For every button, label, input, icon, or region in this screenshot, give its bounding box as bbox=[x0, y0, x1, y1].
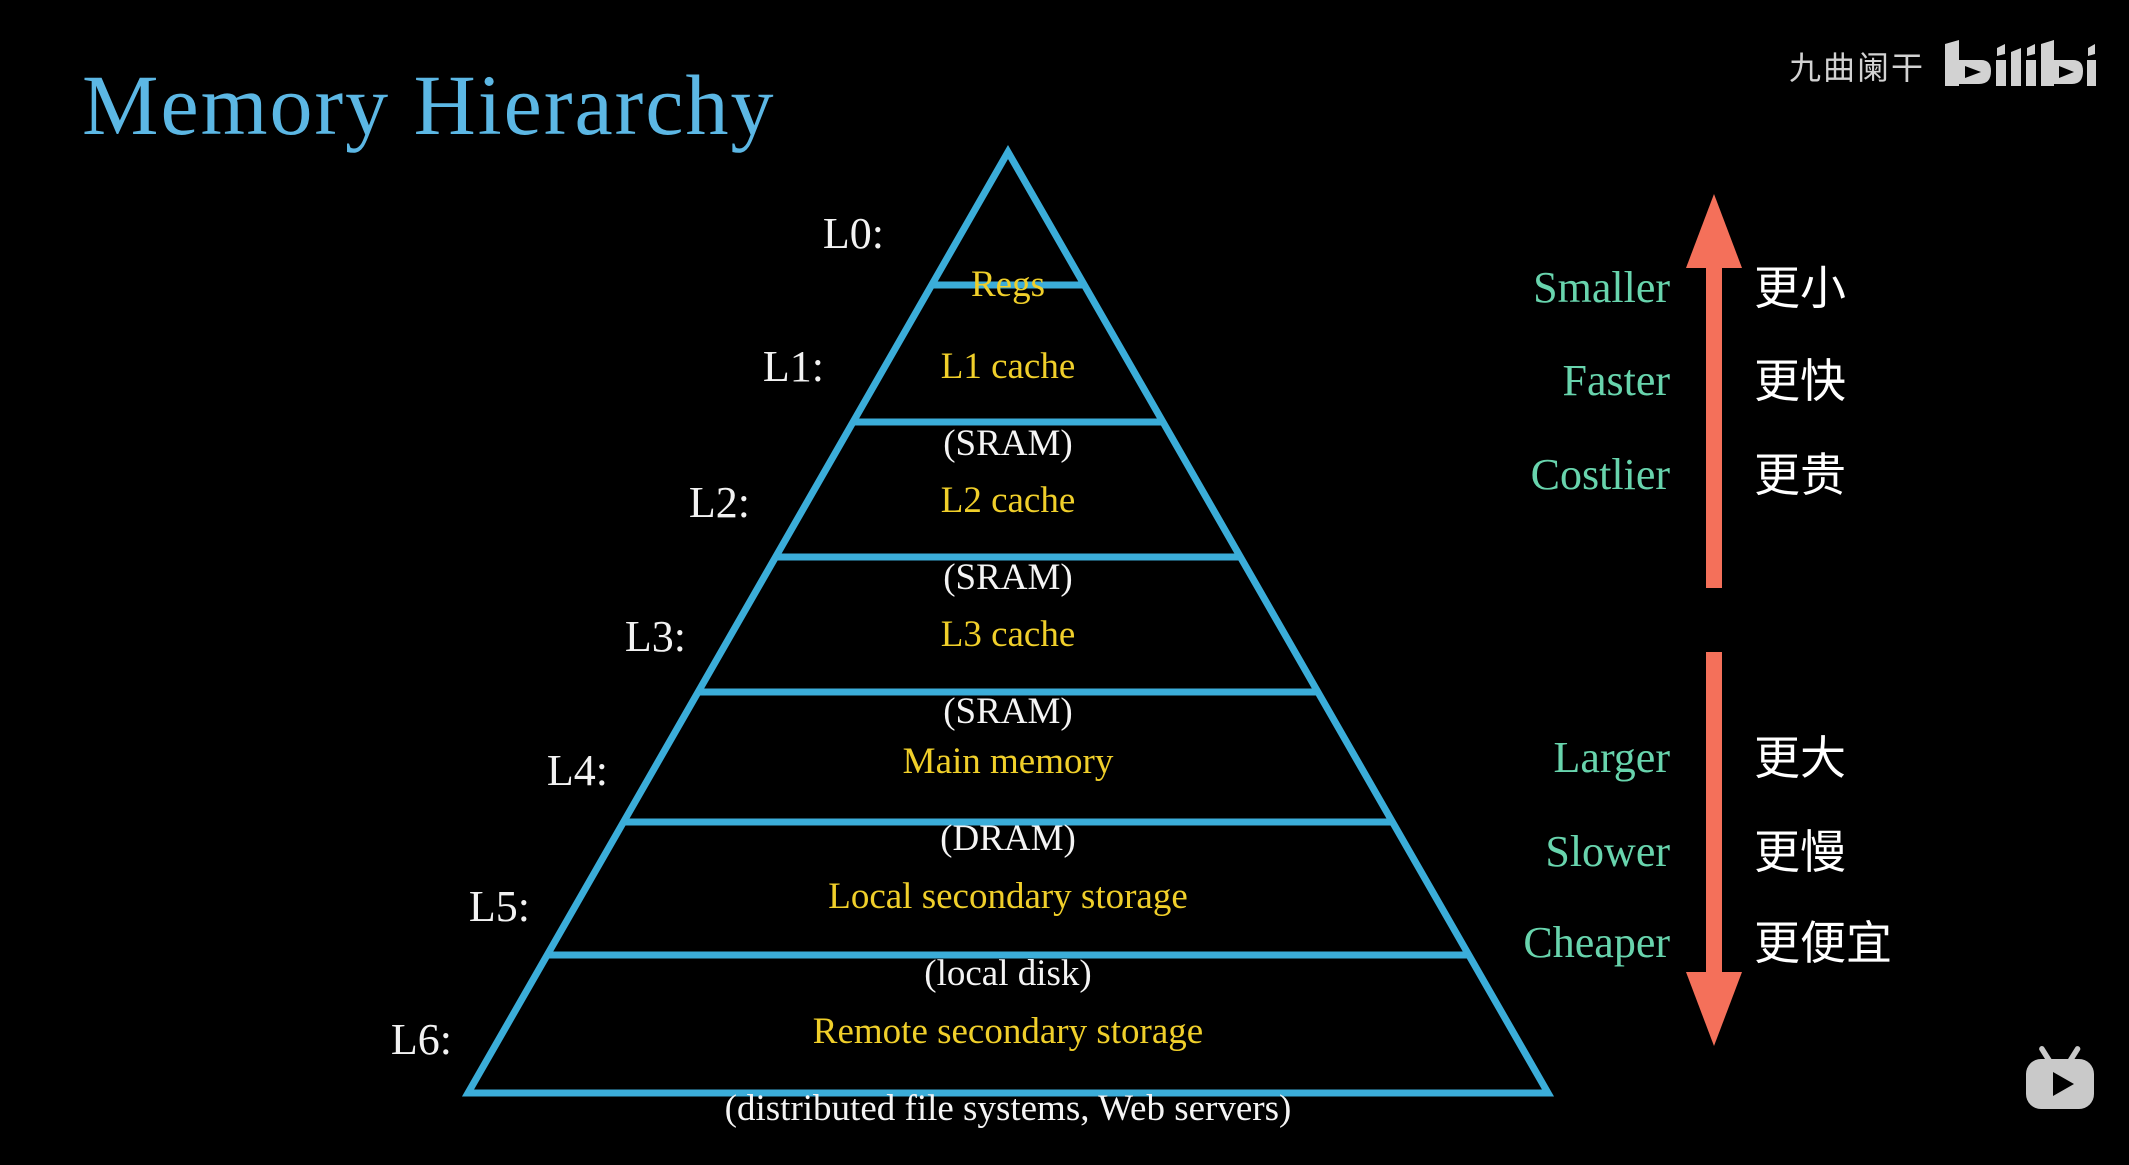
bilibili-logo-icon bbox=[1941, 38, 2101, 94]
bilibili-tv-play-icon bbox=[2021, 1041, 2099, 1113]
level-primary-l1: L1 cache bbox=[808, 346, 1208, 387]
annotation-chinese-cheaper: 更便宜 bbox=[1754, 920, 1904, 966]
level-label-l1: L1: bbox=[664, 345, 824, 389]
slide-canvas: Memory Hierarchy 九曲阑干 bbox=[0, 0, 2129, 1127]
watermark: 九曲阑干 bbox=[1789, 38, 2101, 94]
annotation-chinese-faster: 更快 bbox=[1754, 358, 1904, 404]
annotation-row-smaller: Smaller 更小 bbox=[1480, 265, 1904, 311]
annotation-row-faster: Faster 更快 bbox=[1480, 358, 1904, 404]
level-label-l6: L6: bbox=[292, 1018, 452, 1062]
annotation-row-slower: Slower 更慢 bbox=[1480, 829, 1904, 875]
annotation-row-larger: Larger 更大 bbox=[1480, 735, 1904, 781]
annotation-english-slower: Slower bbox=[1480, 830, 1670, 874]
annotation-english-costlier: Costlier bbox=[1480, 453, 1670, 497]
page-title: Memory Hierarchy bbox=[82, 62, 775, 148]
level-label-l5: L5: bbox=[370, 885, 530, 929]
level-primary-l4: Main memory bbox=[758, 741, 1258, 782]
annotation-row-cheaper: Cheaper 更便宜 bbox=[1480, 920, 1904, 966]
level-label-l4: L4: bbox=[448, 749, 608, 793]
level-label-l3: L3: bbox=[526, 615, 686, 659]
annotation-chinese-costlier: 更贵 bbox=[1754, 452, 1904, 498]
annotation-english-cheaper: Cheaper bbox=[1480, 921, 1670, 965]
level-label-l2: L2: bbox=[590, 481, 750, 525]
annotation-english-larger: Larger bbox=[1480, 736, 1670, 780]
annotation-english-faster: Faster bbox=[1480, 359, 1670, 403]
level-primary-l2: L2 cache bbox=[808, 480, 1208, 521]
annotation-chinese-slower: 更慢 bbox=[1754, 829, 1904, 875]
level-content-l6: Remote secondary storage (distributed fi… bbox=[628, 975, 1388, 1165]
level-primary-l3: L3 cache bbox=[808, 614, 1208, 655]
level-primary-l6: Remote secondary storage bbox=[628, 1011, 1388, 1052]
annotation-english-smaller: Smaller bbox=[1480, 266, 1670, 310]
level-primary-l5: Local secondary storage bbox=[708, 876, 1308, 917]
level-secondary-l6: (distributed file systems, Web servers) bbox=[628, 1088, 1388, 1129]
annotation-row-costlier: Costlier 更贵 bbox=[1480, 452, 1904, 498]
annotation-chinese-smaller: 更小 bbox=[1754, 265, 1904, 311]
level-primary-l0: Regs bbox=[808, 264, 1208, 305]
watermark-author-name: 九曲阑干 bbox=[1789, 43, 1925, 89]
annotation-chinese-larger: 更大 bbox=[1754, 735, 1904, 781]
